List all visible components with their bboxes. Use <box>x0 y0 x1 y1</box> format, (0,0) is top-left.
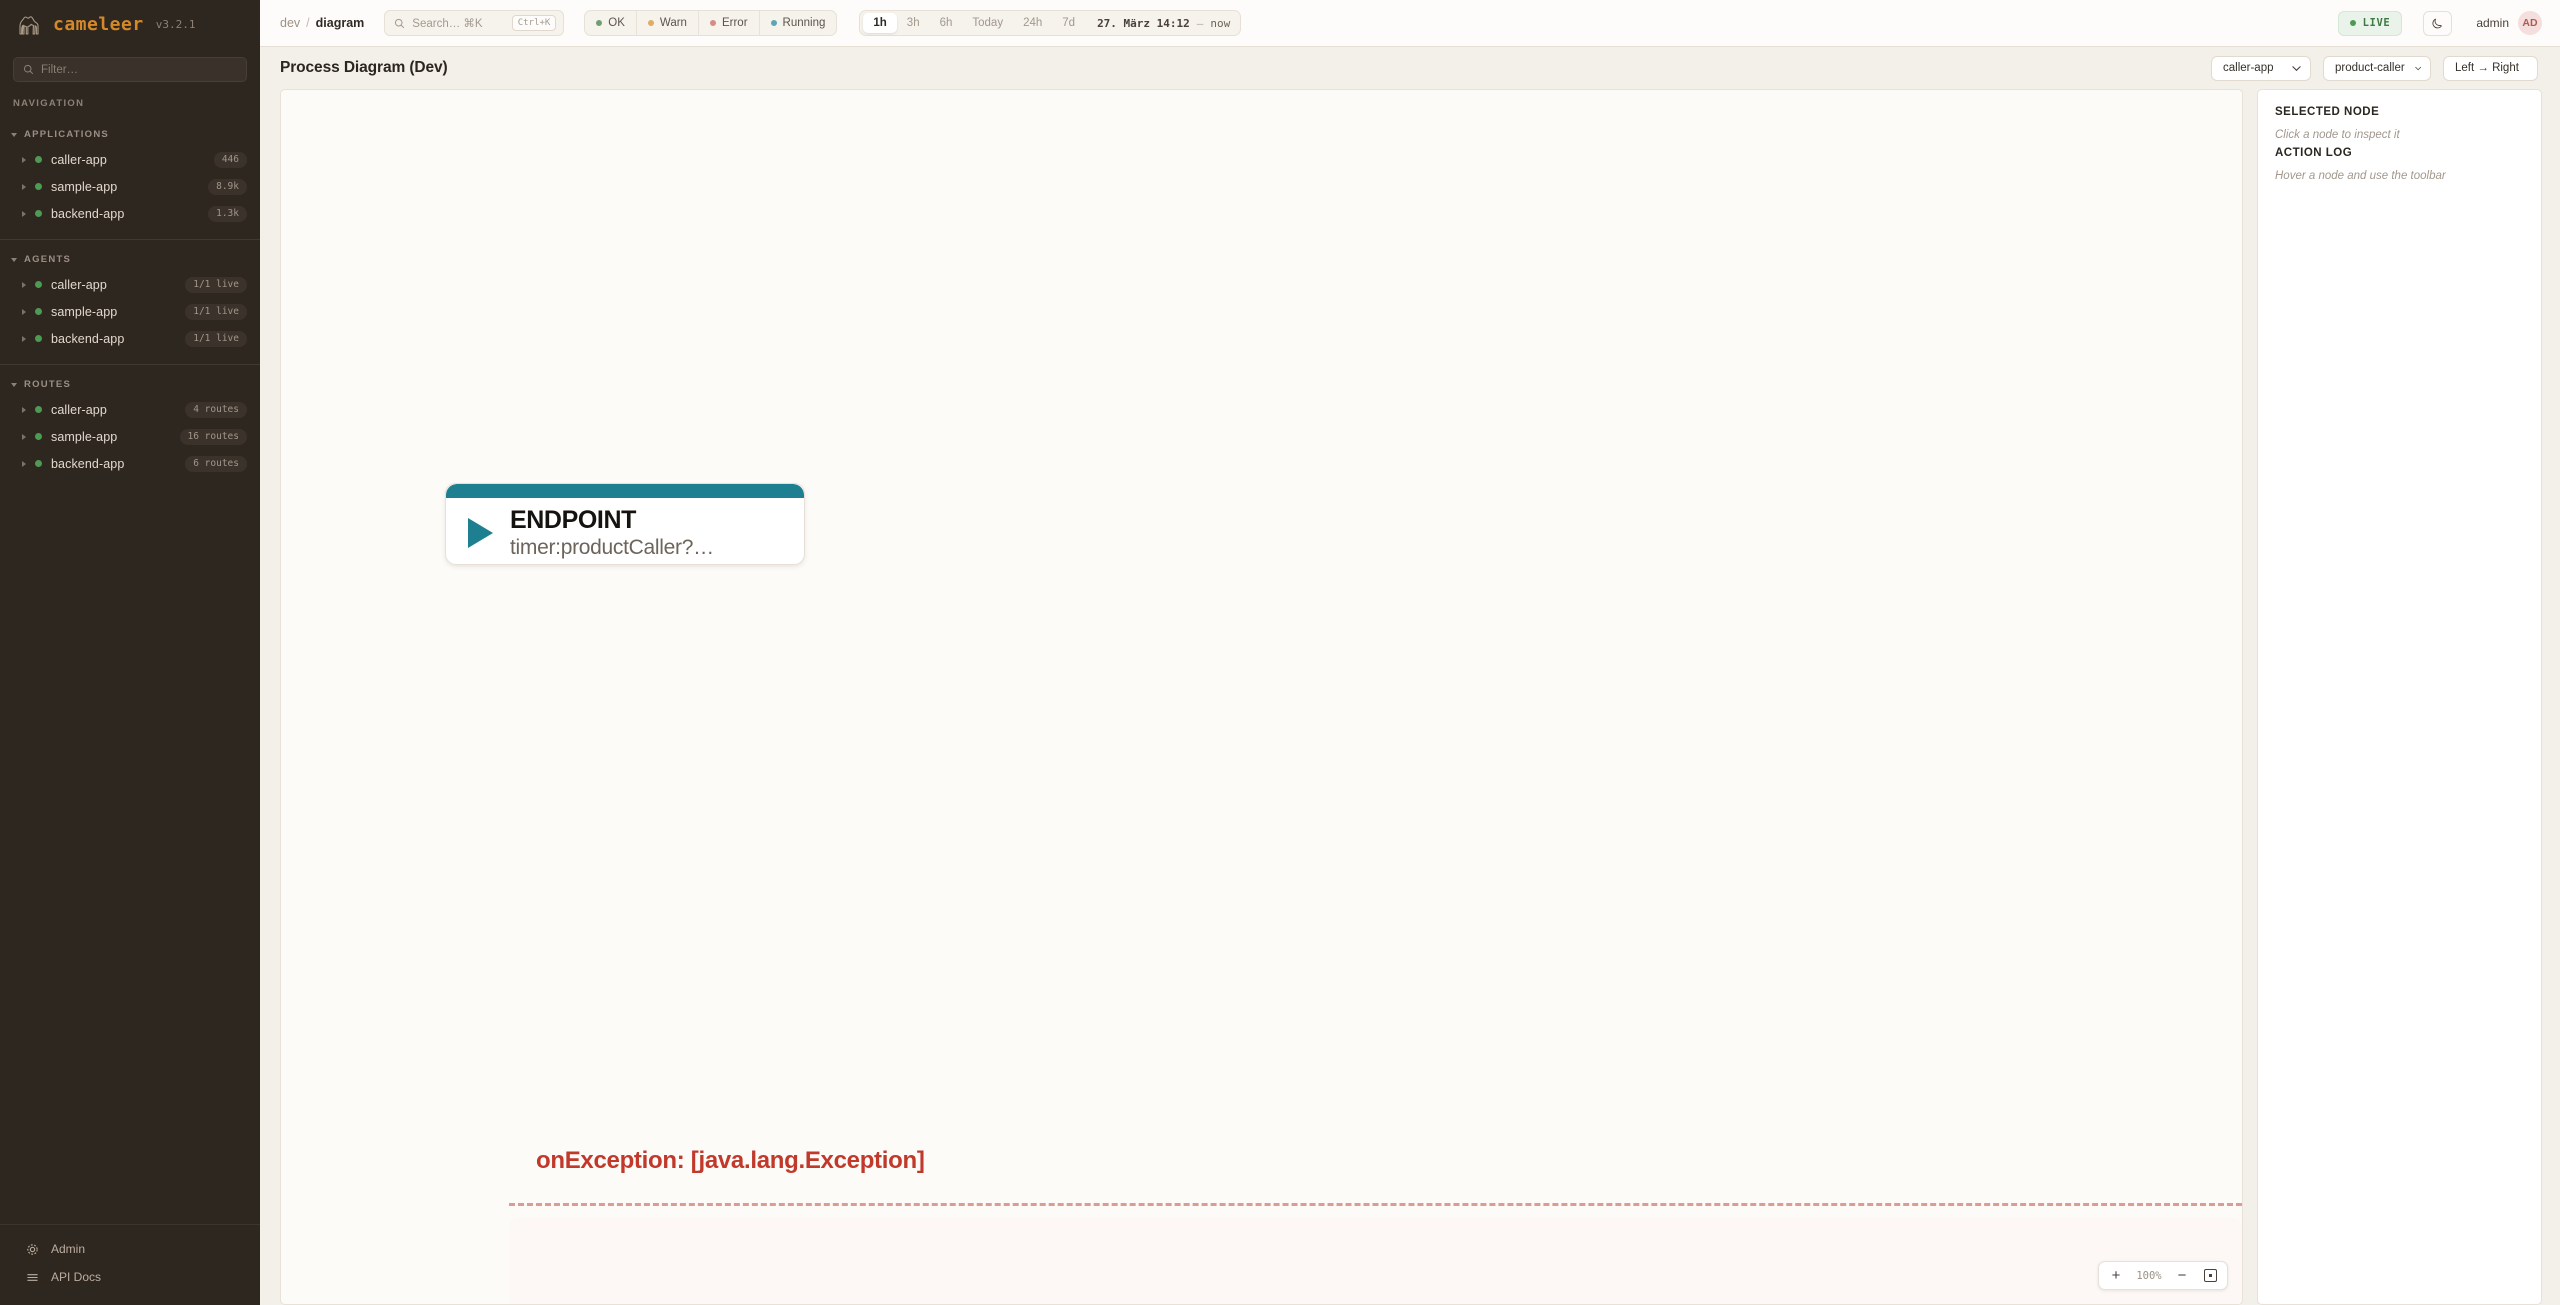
time-range-1h[interactable]: 1h <box>863 13 896 33</box>
item-badge: 1/1 live <box>185 277 247 293</box>
status-pill-label: OK <box>608 17 625 29</box>
item-badge: 16 routes <box>180 429 247 445</box>
sidebar-footer: Admin API Docs <box>0 1224 260 1305</box>
sidebar-item-applications-caller-app[interactable]: caller-app 446 <box>0 146 260 173</box>
time-range-dash: — <box>1197 17 1204 30</box>
node-kind: ENDPOINT <box>510 506 714 535</box>
chevron-down-icon <box>2292 65 2301 72</box>
exception-panel <box>509 1218 2242 1304</box>
nav-section-title: NAVIGATION <box>0 98 260 109</box>
search-input[interactable]: Search… ⌘K Ctrl+K <box>384 10 564 36</box>
status-dot <box>710 20 716 26</box>
divider <box>0 364 260 365</box>
theme-toggle-button[interactable] <box>2423 11 2452 36</box>
status-pill-warn[interactable]: Warn <box>637 11 699 35</box>
group-label: ROUTES <box>24 379 71 390</box>
status-pill-error[interactable]: Error <box>699 11 760 35</box>
brand-version: v3.2.1 <box>156 18 196 31</box>
breadcrumb-current: diagram <box>316 16 365 30</box>
item-label: sample-app <box>51 180 199 194</box>
search-icon <box>23 64 34 75</box>
diagram-controls: caller-app product-caller Left → Right <box>2211 56 2538 81</box>
node-body: ENDPOINT timer:productCaller?… <box>446 498 804 560</box>
status-pill-label: Running <box>783 17 826 29</box>
group-label: AGENTS <box>24 254 71 265</box>
live-badge[interactable]: LIVE <box>2338 11 2403 36</box>
chevron-right-icon <box>22 282 26 288</box>
status-dot <box>35 308 42 315</box>
sidebar-item-routes-backend-app[interactable]: backend-app 6 routes <box>0 450 260 477</box>
breadcrumb-root[interactable]: dev <box>280 16 300 30</box>
status-dot <box>35 210 42 217</box>
chevron-right-icon <box>22 309 26 315</box>
search-icon <box>394 18 405 29</box>
sidebar-item-admin[interactable]: Admin <box>0 1235 260 1263</box>
sidebar-item-label: Admin <box>51 1242 85 1256</box>
sidebar-item-applications-sample-app[interactable]: sample-app 8.9k <box>0 173 260 200</box>
item-badge: 8.9k <box>208 179 247 195</box>
sidebar-item-agents-caller-app[interactable]: caller-app 1/1 live <box>0 271 260 298</box>
time-range-6h[interactable]: 6h <box>930 13 963 33</box>
status-pill-label: Error <box>722 17 748 29</box>
sidebar-item-agents-backend-app[interactable]: backend-app 1/1 live <box>0 325 260 352</box>
node-accent-bar <box>446 484 804 498</box>
zoom-controls: + 100% − <box>2098 1261 2228 1290</box>
item-label: caller-app <box>51 278 176 292</box>
sidebar-item-applications-backend-app[interactable]: backend-app 1.3k <box>0 200 260 227</box>
time-range-from: 27. März 14:12 <box>1097 17 1190 30</box>
group-header-applications[interactable]: APPLICATIONS <box>0 123 260 146</box>
item-label: backend-app <box>51 457 176 471</box>
chevron-down-icon <box>11 258 17 262</box>
direction-select[interactable]: Left → Right <box>2443 56 2538 81</box>
status-dot <box>35 406 42 413</box>
group-header-agents[interactable]: AGENTS <box>0 248 260 271</box>
route-select-value: product-caller <box>2335 62 2405 74</box>
node-uri: timer:productCaller?… <box>510 535 714 560</box>
chevron-right-icon <box>22 336 26 342</box>
time-range-absolute[interactable]: 27. März 14:12 — now <box>1085 17 1237 30</box>
status-dot <box>35 433 42 440</box>
item-label: backend-app <box>51 207 199 221</box>
selected-node-hint: Click a node to inspect it <box>2275 129 2524 141</box>
time-range-group: 1h 3h 6h Today 24h 7d 27. März 14:12 — n… <box>859 10 1241 36</box>
item-label: caller-app <box>51 153 205 167</box>
moon-icon <box>2431 17 2444 30</box>
chevron-right-icon <box>22 157 26 163</box>
item-badge: 1.3k <box>208 206 247 222</box>
user-menu[interactable]: admin AD <box>2476 11 2542 35</box>
item-label: backend-app <box>51 332 176 346</box>
chevron-right-icon <box>22 211 26 217</box>
brand-name: cameleer <box>53 14 144 35</box>
play-icon <box>468 518 493 548</box>
item-badge: 4 routes <box>185 402 247 418</box>
direction-select-value: Left → Right <box>2455 62 2519 74</box>
application-select-value: caller-app <box>2223 62 2282 74</box>
application-select[interactable]: caller-app <box>2211 56 2311 81</box>
chevron-right-icon <box>22 407 26 413</box>
chevron-down-icon <box>2415 65 2421 72</box>
status-pill-running[interactable]: Running <box>760 11 837 35</box>
sidebar-group-agents: AGENTS caller-app 1/1 live sample-app 1/… <box>0 248 260 356</box>
status-dot <box>35 281 42 288</box>
breadcrumb-separator: / <box>306 16 309 30</box>
status-filter-group: OK Warn Error Running <box>584 10 837 36</box>
menu-icon <box>26 1271 39 1284</box>
diagram-canvas[interactable]: ENDPOINT timer:productCaller?… onExcepti… <box>280 89 2243 1305</box>
camel-icon <box>16 12 42 36</box>
status-dot <box>648 20 654 26</box>
status-dot <box>35 183 42 190</box>
content-body: ENDPOINT timer:productCaller?… onExcepti… <box>260 89 2560 1305</box>
item-badge: 1/1 live <box>185 304 247 320</box>
filter-box[interactable] <box>13 57 247 82</box>
item-label: caller-app <box>51 403 176 417</box>
chevron-right-icon <box>22 461 26 467</box>
sidebar: cameleer v3.2.1 NAVIGATION APPLICATIONS <box>0 0 260 1305</box>
user-name: admin <box>2476 16 2509 30</box>
status-pill-ok[interactable]: OK <box>585 11 637 35</box>
status-dot <box>35 156 42 163</box>
chevron-right-icon <box>22 434 26 440</box>
divider <box>0 239 260 240</box>
app-root: cameleer v3.2.1 NAVIGATION APPLICATIONS <box>0 0 2560 1305</box>
avatar: AD <box>2518 11 2542 35</box>
zoom-out-button[interactable]: − <box>2170 1265 2194 1287</box>
node-text: ENDPOINT timer:productCaller?… <box>510 506 714 560</box>
sidebar-group-routes: ROUTES caller-app 4 routes sample-app 16… <box>0 373 260 481</box>
route-select[interactable]: product-caller <box>2323 56 2431 81</box>
chevron-down-icon <box>11 133 17 137</box>
zoom-in-button[interactable]: + <box>2104 1265 2128 1287</box>
action-log-title: ACTION LOG <box>2275 147 2524 159</box>
live-label: LIVE <box>2363 17 2391 29</box>
status-dot <box>35 460 42 467</box>
status-dot <box>35 335 42 342</box>
brand[interactable]: cameleer v3.2.1 <box>0 0 260 48</box>
item-badge: 6 routes <box>185 456 247 472</box>
selected-node-title: SELECTED NODE <box>2275 106 2524 118</box>
exception-divider <box>509 1203 2242 1206</box>
action-log-hint: Hover a node and use the toolbar <box>2275 170 2524 182</box>
sidebar-item-agents-sample-app[interactable]: sample-app 1/1 live <box>0 298 260 325</box>
gear-icon <box>26 1243 39 1256</box>
page-header: Process Diagram (Dev) caller-app product… <box>260 47 2560 89</box>
time-range-7d[interactable]: 7d <box>1052 13 1085 33</box>
search-placeholder: Search… ⌘K <box>412 16 504 30</box>
time-range-today[interactable]: Today <box>962 13 1013 33</box>
time-range-to: now <box>1210 17 1230 30</box>
main: dev / diagram Search… ⌘K Ctrl+K OK <box>260 0 2560 1305</box>
sidebar-nav: NAVIGATION APPLICATIONS caller-app 446 s… <box>0 82 260 1224</box>
sidebar-group-applications: APPLICATIONS caller-app 446 sample-app 8… <box>0 123 260 231</box>
chevron-right-icon <box>22 184 26 190</box>
time-range-3h[interactable]: 3h <box>897 13 930 33</box>
group-header-routes[interactable]: ROUTES <box>0 373 260 396</box>
time-range-24h[interactable]: 24h <box>1013 13 1052 33</box>
inspector-panel: SELECTED NODE Click a node to inspect it… <box>2257 89 2542 1305</box>
page-title: Process Diagram (Dev) <box>280 59 448 77</box>
zoom-fit-button[interactable] <box>2198 1265 2222 1287</box>
group-label: APPLICATIONS <box>24 129 109 140</box>
zoom-level: 100% <box>2132 1270 2166 1282</box>
status-dot <box>2350 20 2356 26</box>
sidebar-item-routes-sample-app[interactable]: sample-app 16 routes <box>0 423 260 450</box>
item-label: sample-app <box>51 305 176 319</box>
diagram-node-endpoint[interactable]: ENDPOINT timer:productCaller?… <box>445 483 805 565</box>
status-dot <box>596 20 602 26</box>
status-pill-label: Warn <box>660 17 687 29</box>
fit-icon <box>2204 1269 2217 1282</box>
filter-input[interactable] <box>41 64 237 76</box>
sidebar-item-label: API Docs <box>51 1270 101 1284</box>
breadcrumb: dev / diagram <box>280 16 364 30</box>
item-badge: 1/1 live <box>185 331 247 347</box>
status-dot <box>771 20 777 26</box>
topbar: dev / diagram Search… ⌘K Ctrl+K OK <box>260 0 2560 47</box>
sidebar-item-routes-caller-app[interactable]: caller-app 4 routes <box>0 396 260 423</box>
search-shortcut-badge: Ctrl+K <box>512 15 557 31</box>
item-label: sample-app <box>51 430 171 444</box>
item-badge: 446 <box>214 152 247 168</box>
chevron-down-icon <box>11 383 17 387</box>
filter-wrap <box>0 48 260 82</box>
sidebar-item-api-docs[interactable]: API Docs <box>0 1263 260 1291</box>
exception-label: onException: [java.lang.Exception] <box>536 1147 925 1175</box>
